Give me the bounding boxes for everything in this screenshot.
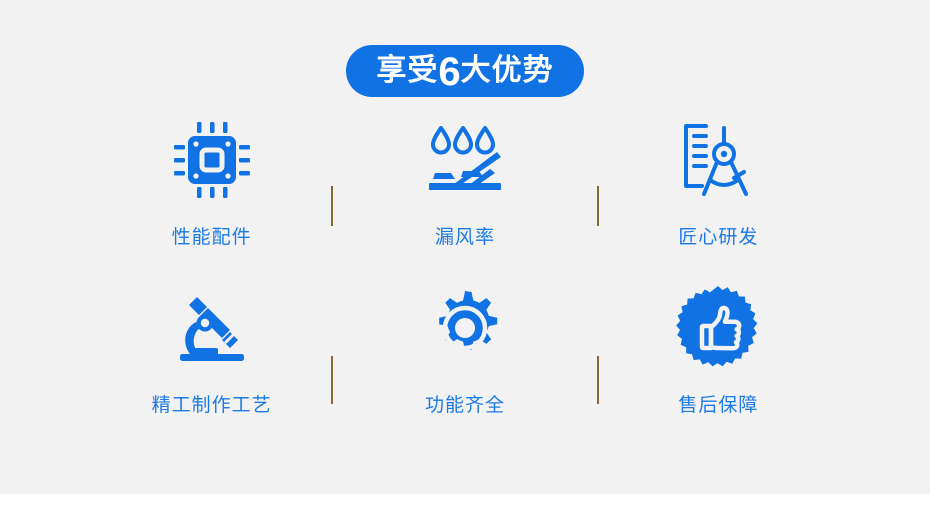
feature-label: 精工制作工艺 <box>152 390 272 417</box>
water-repellent-fabric-icon <box>417 112 513 208</box>
cpu-chip-icon <box>164 112 260 208</box>
feature-item-after-sales: 售后保障 <box>592 280 845 448</box>
microscope-icon <box>164 280 260 376</box>
column-divider <box>331 186 333 226</box>
feature-label: 售后保障 <box>678 390 758 417</box>
header-badge-container: 享受6大优势 <box>0 45 930 97</box>
gear-icon <box>417 280 513 376</box>
feature-grid: 性能配件 <box>85 112 845 447</box>
feature-label: 功能齐全 <box>425 390 505 417</box>
bottom-white-strip <box>0 494 930 519</box>
feature-item-rnd: 匠心研发 <box>592 112 845 280</box>
column-divider <box>597 186 599 226</box>
column-divider <box>331 356 333 404</box>
feature-item-full-function: 功能齐全 <box>338 280 591 448</box>
ruler-compass-icon <box>670 112 766 208</box>
feature-label: 性能配件 <box>172 222 252 249</box>
feature-item-craftsmanship: 精工制作工艺 <box>85 280 338 448</box>
header-badge: 享受6大优势 <box>346 45 583 97</box>
thumbs-up-badge-icon <box>670 280 766 376</box>
badge-prefix-text: 享受 <box>376 56 438 86</box>
badge-number: 6 <box>438 52 460 92</box>
badge-suffix-text: 大优势 <box>461 56 554 86</box>
column-divider <box>597 356 599 404</box>
feature-label: 漏风率 <box>435 222 495 249</box>
feature-label: 匠心研发 <box>678 222 758 249</box>
feature-item-performance-parts: 性能配件 <box>85 112 338 280</box>
promo-banner: 享受6大优势 <box>0 0 930 519</box>
feature-item-air-leakage: 漏风率 <box>338 112 591 280</box>
